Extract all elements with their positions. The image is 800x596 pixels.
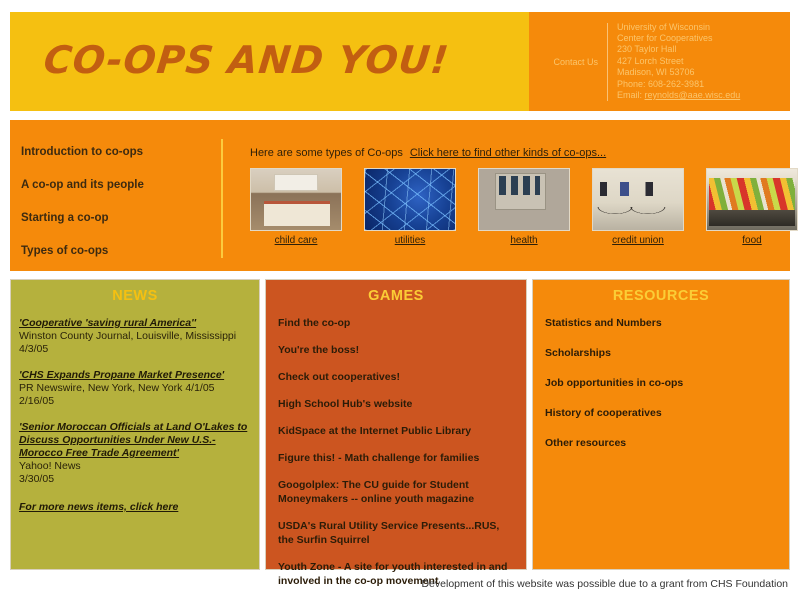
credit-union-image[interactable] xyxy=(592,168,684,231)
contact-address-block: University of Wisconsin Center for Coope… xyxy=(608,22,740,102)
thumb-credit-union[interactable]: credit union xyxy=(592,168,684,246)
news-item-date: 2/16/05 xyxy=(19,395,251,408)
thumb-utilities[interactable]: utilities xyxy=(364,168,456,246)
page-root: Co-ops and You! Contact Us University of… xyxy=(0,0,800,596)
games-column: GAMES Find the co-op You're the boss! Ch… xyxy=(265,279,527,570)
coop-types-thumbnails: child care utilities health credit union… xyxy=(250,168,790,246)
resource-link-job-opportunities[interactable]: Job opportunities in co-ops xyxy=(545,376,777,390)
footer-grant-note: Development of this website was possible… xyxy=(421,578,788,590)
coop-types-headline: Here are some types of Co-opsClick here … xyxy=(250,147,606,159)
nav-item-introduction[interactable]: Introduction to co-ops xyxy=(21,145,221,159)
resource-link-scholarships[interactable]: Scholarships xyxy=(545,346,777,360)
game-link-googolplex[interactable]: Googolplex: The CU guide for Student Mon… xyxy=(278,478,514,506)
resource-link-other-resources[interactable]: Other resources xyxy=(545,436,777,450)
news-item-date: 3/30/05 xyxy=(19,473,251,486)
child-care-image[interactable] xyxy=(250,168,342,231)
game-link-find-the-coop[interactable]: Find the co-op xyxy=(278,316,514,330)
utilities-caption[interactable]: utilities xyxy=(364,235,456,246)
resources-heading: RESOURCES xyxy=(533,280,789,304)
contact-phone: Phone: 608-262-3981 xyxy=(617,79,740,90)
content-columns: NEWS 'Cooperative 'saving rural America'… xyxy=(10,279,790,570)
news-heading: NEWS xyxy=(11,280,259,304)
contact-street: 427 Lorch Street xyxy=(617,56,740,67)
contact-building: 230 Taylor Hall xyxy=(617,44,740,55)
contact-email-link[interactable]: reynolds@aae.wisc.edu xyxy=(645,90,741,100)
site-header: Co-ops and You! Contact Us University of… xyxy=(10,12,790,111)
news-more-link[interactable]: For more news items, click here xyxy=(11,499,259,513)
contact-org-line2: Center for Cooperatives xyxy=(617,33,740,44)
page-title: Co-ops and You! xyxy=(42,38,452,82)
game-link-high-school-hub[interactable]: High School Hub's website xyxy=(278,397,514,411)
news-item-title[interactable]: 'CHS Expands Propane Market Presence' xyxy=(19,369,251,382)
news-item: 'Cooperative 'saving rural America'' Win… xyxy=(19,317,251,356)
health-caption[interactable]: health xyxy=(478,235,570,246)
utilities-image[interactable] xyxy=(364,168,456,231)
nav-divider xyxy=(221,139,223,258)
game-link-check-out-cooperatives[interactable]: Check out cooperatives! xyxy=(278,370,514,384)
news-item-source: Winston County Journal, Louisville, Miss… xyxy=(19,330,251,343)
game-link-youre-the-boss[interactable]: You're the boss! xyxy=(278,343,514,357)
news-item: 'Senior Moroccan Officials at Land O'Lak… xyxy=(19,421,251,486)
resource-link-history[interactable]: History of cooperatives xyxy=(545,406,777,420)
news-item-source: Yahoo! News xyxy=(19,460,251,473)
news-item-source: PR Newswire, New York, New York 4/1/05 xyxy=(19,382,251,395)
coop-types-headline-text: Here are some types of Co-ops xyxy=(250,147,403,159)
credit-union-caption[interactable]: credit union xyxy=(592,235,684,246)
resources-column: RESOURCES Statistics and Numbers Scholar… xyxy=(532,279,790,570)
nav-item-starting-a-coop[interactable]: Starting a co-op xyxy=(21,211,221,225)
news-item-date: 4/3/05 xyxy=(19,343,251,356)
game-link-kidspace[interactable]: KidSpace at the Internet Public Library xyxy=(278,424,514,438)
contact-org-line1: University of Wisconsin xyxy=(617,22,740,33)
nav-item-coop-and-its-people[interactable]: A co-op and its people xyxy=(21,178,221,192)
coop-types-more-link[interactable]: Click here to find other kinds of co-ops… xyxy=(410,147,606,159)
contact-label: Contact Us xyxy=(529,56,607,68)
contact-city-state-zip: Madison, WI 53706 xyxy=(617,67,740,78)
contact-email-row: Email: reynolds@aae.wisc.edu xyxy=(617,90,740,101)
game-link-figure-this[interactable]: Figure this! - Math challenge for famili… xyxy=(278,451,514,465)
thumb-food[interactable]: food xyxy=(706,168,798,246)
game-link-usda-surfin-squirrel[interactable]: USDA's Rural Utility Service Presents...… xyxy=(278,519,514,547)
title-banner: Co-ops and You! xyxy=(10,12,529,111)
news-item-title[interactable]: 'Senior Moroccan Officials at Land O'Lak… xyxy=(19,421,251,460)
child-care-caption[interactable]: child care xyxy=(250,235,342,246)
games-heading: GAMES xyxy=(266,280,526,304)
thumb-child-care[interactable]: child care xyxy=(250,168,342,246)
nav-and-types-band: Introduction to co-ops A co-op and its p… xyxy=(10,120,790,271)
games-list: Find the co-op You're the boss! Check ou… xyxy=(266,304,526,588)
news-list: 'Cooperative 'saving rural America'' Win… xyxy=(11,304,259,486)
news-column: NEWS 'Cooperative 'saving rural America'… xyxy=(10,279,260,570)
coop-types-section: Here are some types of Co-opsClick here … xyxy=(240,120,790,271)
news-item: 'CHS Expands Propane Market Presence' PR… xyxy=(19,369,251,408)
food-caption[interactable]: food xyxy=(706,235,798,246)
nav-item-types-of-coops[interactable]: Types of co-ops xyxy=(21,244,221,258)
food-image[interactable] xyxy=(706,168,798,231)
news-item-title[interactable]: 'Cooperative 'saving rural America'' xyxy=(19,317,251,330)
resources-list: Statistics and Numbers Scholarships Job … xyxy=(533,304,789,450)
resource-link-statistics[interactable]: Statistics and Numbers xyxy=(545,316,777,330)
health-image[interactable] xyxy=(478,168,570,231)
contact-email-label: Email: xyxy=(617,90,642,100)
contact-panel: Contact Us University of Wisconsin Cente… xyxy=(529,12,790,111)
main-nav: Introduction to co-ops A co-op and its p… xyxy=(21,145,221,277)
thumb-health[interactable]: health xyxy=(478,168,570,246)
